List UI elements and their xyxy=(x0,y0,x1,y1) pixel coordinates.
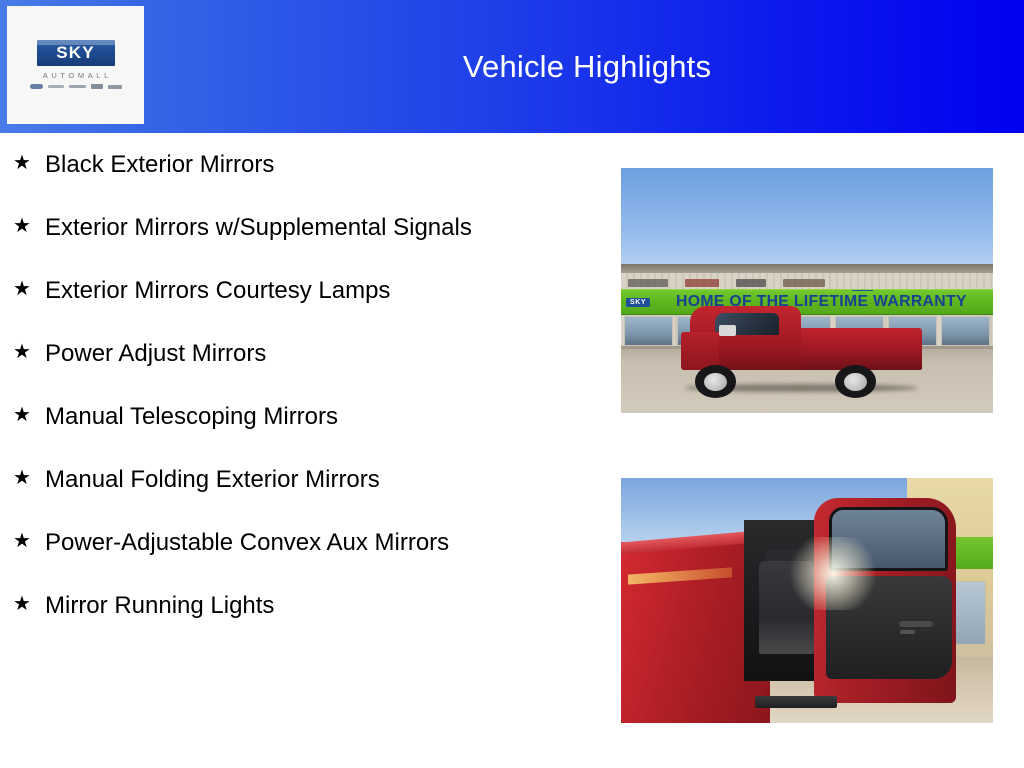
star-bullet-icon: ★ xyxy=(13,400,45,431)
door-armrest xyxy=(899,621,933,627)
list-item-label: Power-Adjustable Convex Aux Mirrors xyxy=(45,526,449,559)
front-wheel xyxy=(695,365,736,398)
brand-logo-icon xyxy=(628,279,667,286)
window-pane xyxy=(624,316,673,345)
logo-subtitle: AUTOMALL xyxy=(39,71,112,80)
logo-brand-marks xyxy=(30,83,122,91)
brand-logo-icon xyxy=(736,279,765,286)
list-item: ★ Manual Telescoping Mirrors xyxy=(0,400,600,433)
truck-hood xyxy=(681,332,720,370)
list-item-label: Power Adjust Mirrors xyxy=(45,337,266,370)
slide-root: Vehicle Highlights SKY AUTOMALL ★ Black … xyxy=(0,0,1024,768)
logo-inner: SKY AUTOMALL xyxy=(26,40,126,91)
list-item-label: Manual Telescoping Mirrors xyxy=(45,400,338,433)
dealership-brand-strip xyxy=(628,277,874,289)
star-bullet-icon: ★ xyxy=(13,337,45,368)
red-pickup-truck xyxy=(681,303,923,389)
banner-sky-badge-secondary: SKY xyxy=(852,289,873,291)
brand-logo-icon xyxy=(685,279,719,286)
running-board-step xyxy=(755,696,837,708)
logo-brand-text: SKY xyxy=(56,44,95,61)
star-bullet-icon: ★ xyxy=(13,526,45,557)
brand-mark-icon xyxy=(48,85,64,88)
page-title: Vehicle Highlights xyxy=(150,0,1024,133)
sun-flare xyxy=(785,537,882,611)
star-bullet-icon: ★ xyxy=(13,148,45,179)
list-item-label: Black Exterior Mirrors xyxy=(45,148,274,181)
brand-mark-icon xyxy=(108,85,122,89)
star-bullet-icon: ★ xyxy=(13,274,45,305)
star-bullet-icon: ★ xyxy=(13,463,45,494)
list-item: ★ Exterior Mirrors w/Supplemental Signal… xyxy=(0,211,600,244)
vehicle-highlights-list: ★ Black Exterior Mirrors ★ Exterior Mirr… xyxy=(0,148,600,652)
rear-wheel xyxy=(835,365,876,398)
brand-mark-icon xyxy=(30,84,43,89)
list-item: ★ Manual Folding Exterior Mirrors xyxy=(0,463,600,496)
door-handle-icon xyxy=(900,630,915,634)
list-item-label: Exterior Mirrors Courtesy Lamps xyxy=(45,274,390,307)
list-item: ★ Black Exterior Mirrors xyxy=(0,148,600,181)
header-band: Vehicle Highlights xyxy=(0,0,1024,133)
vehicle-exterior-photo: SKY HOME OF THE LIFETIME WARRANTY SKY xyxy=(621,168,993,413)
sky-background xyxy=(621,168,993,271)
list-item: ★ Power-Adjustable Convex Aux Mirrors xyxy=(0,526,600,559)
list-item-label: Exterior Mirrors w/Supplemental Signals xyxy=(45,211,472,244)
list-item-label: Mirror Running Lights xyxy=(45,589,274,622)
brand-mark-icon xyxy=(69,85,86,88)
vehicle-interior-photo: HOME xyxy=(621,478,993,723)
star-bullet-icon: ★ xyxy=(13,589,45,620)
brand-mark-icon xyxy=(91,84,103,89)
list-item-label: Manual Folding Exterior Mirrors xyxy=(45,463,380,496)
list-item: ★ Exterior Mirrors Courtesy Lamps xyxy=(0,274,600,307)
list-item: ★ Power Adjust Mirrors xyxy=(0,337,600,370)
list-item: ★ Mirror Running Lights xyxy=(0,589,600,622)
star-bullet-icon: ★ xyxy=(13,211,45,242)
side-mirror-icon xyxy=(719,325,736,336)
brand-logo-icon xyxy=(783,279,825,286)
logo-plate: SKY xyxy=(37,40,115,66)
dealer-logo[interactable]: SKY AUTOMALL xyxy=(7,6,144,124)
window-pane xyxy=(941,316,990,345)
